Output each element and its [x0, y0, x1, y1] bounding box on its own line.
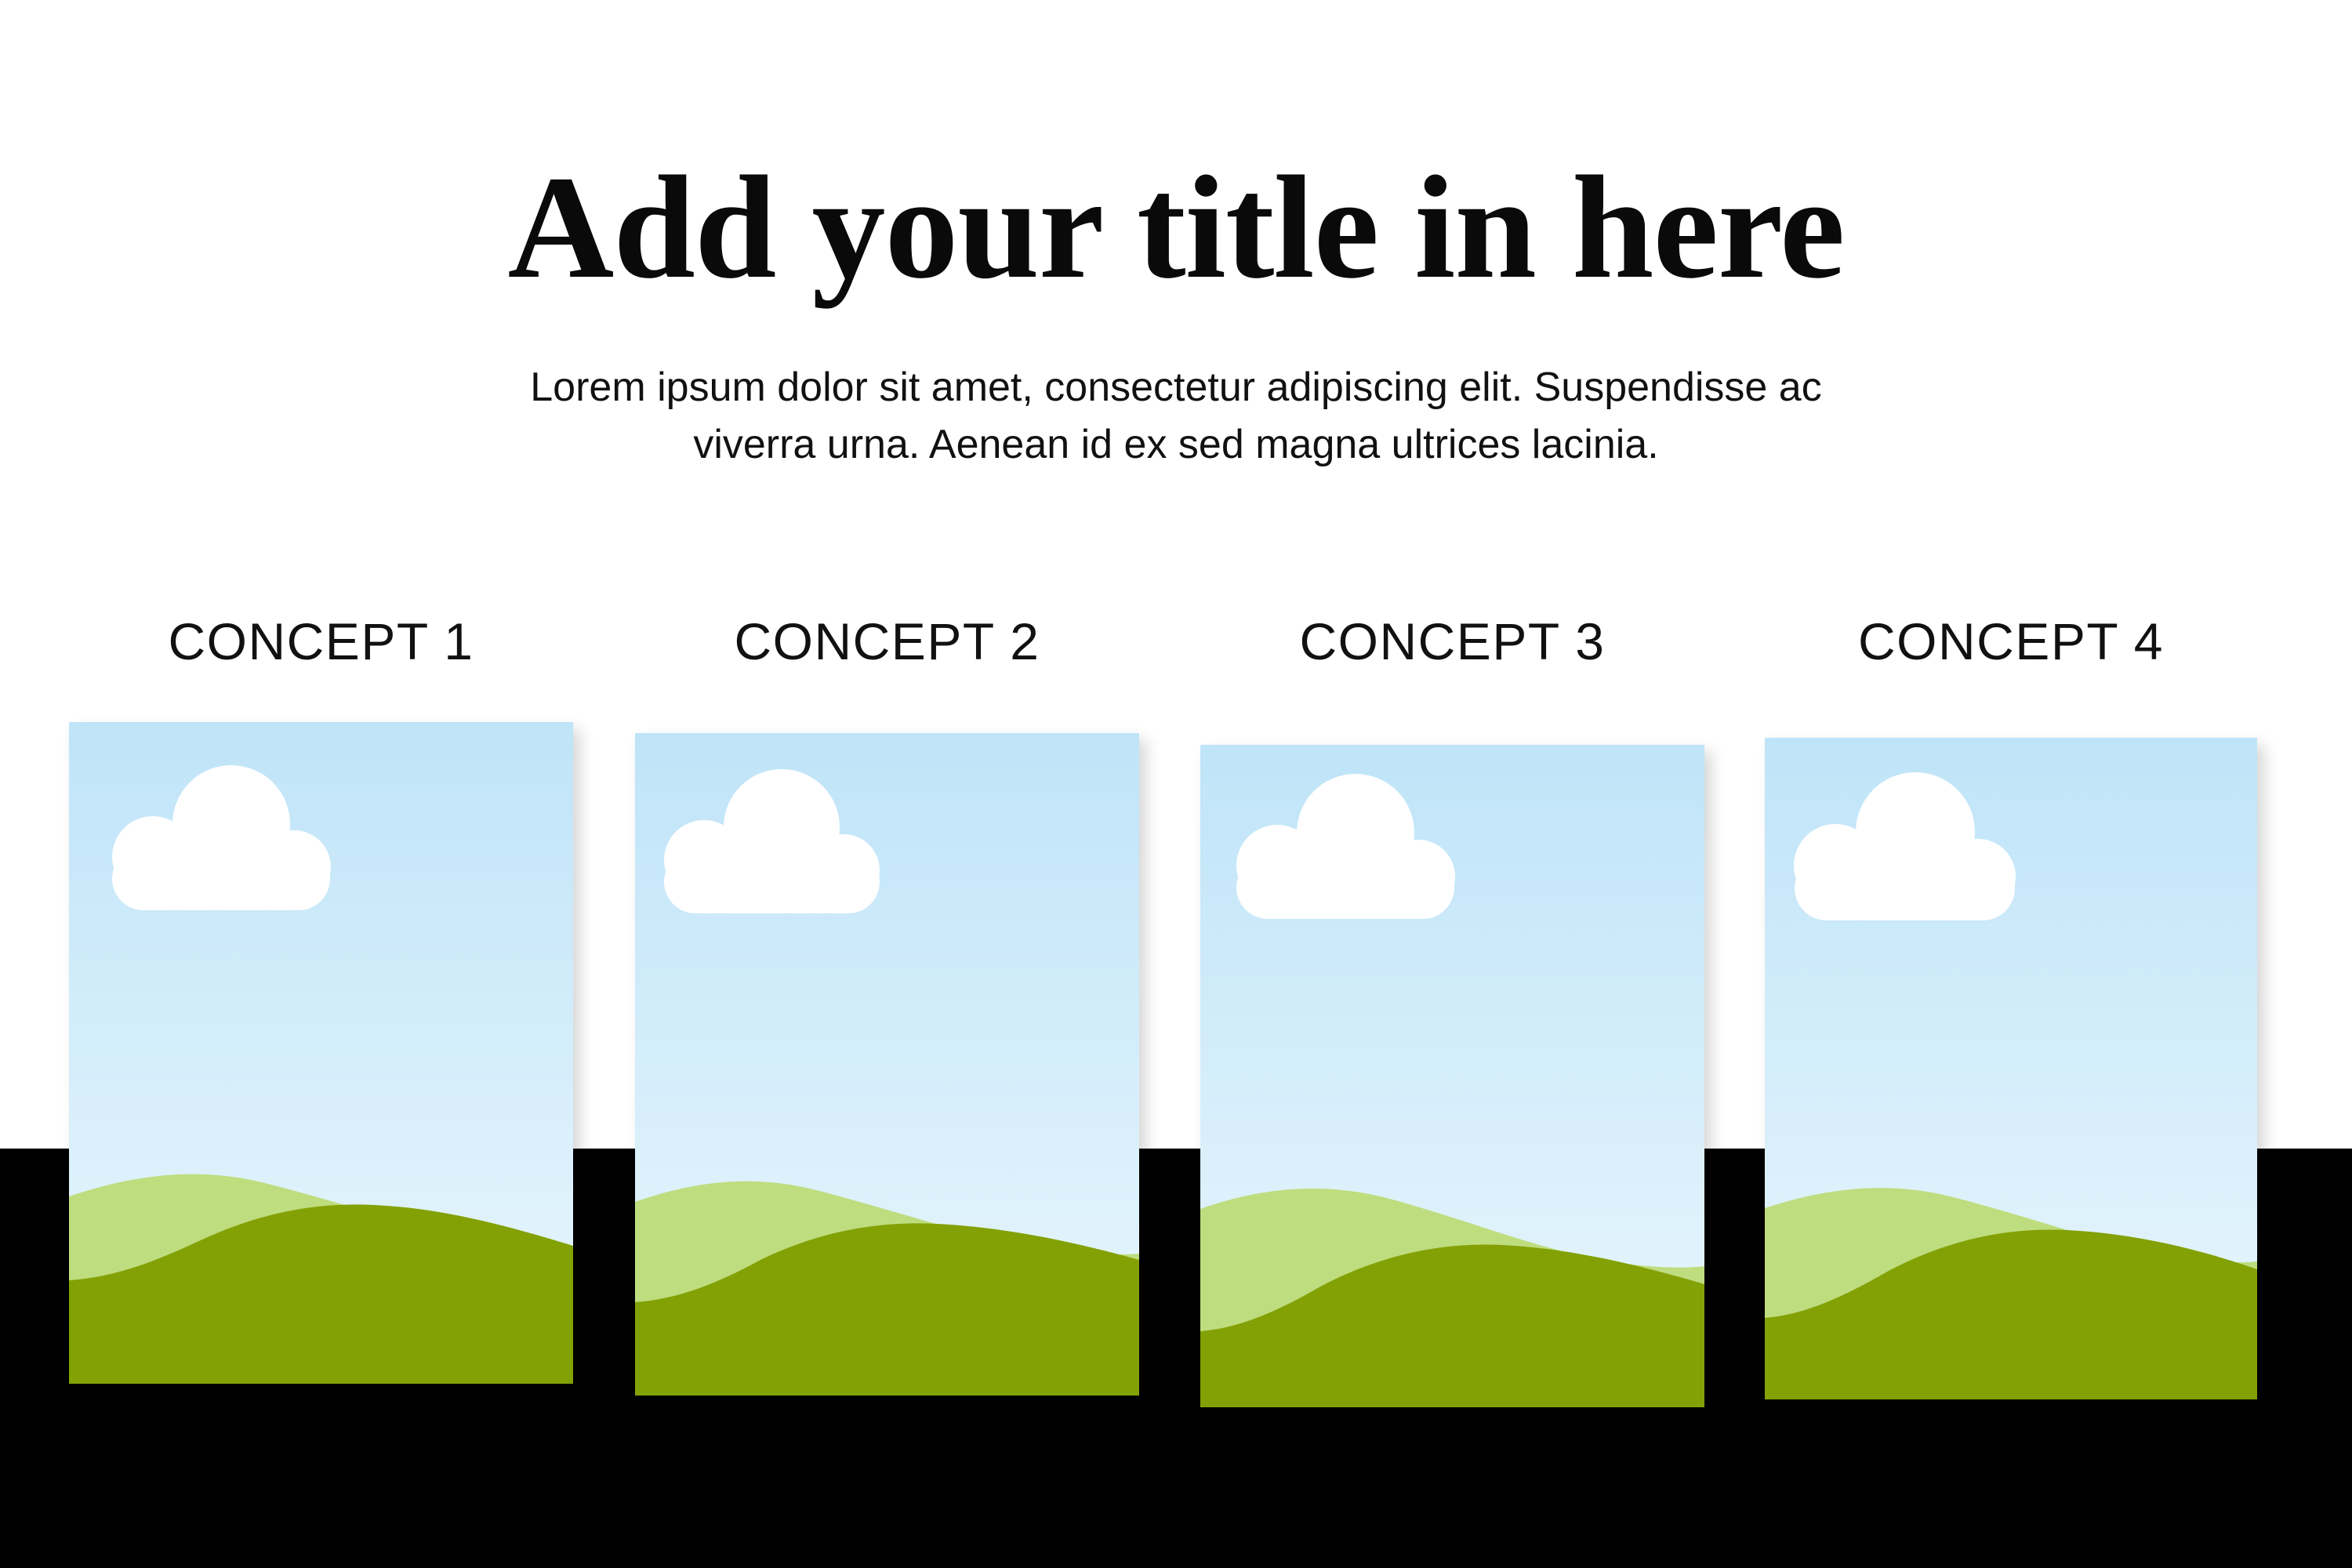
concept-label-2: CONCEPT 2	[635, 615, 1139, 667]
concept-label-1: CONCEPT 1	[69, 615, 573, 667]
landscape-illustration-3	[1200, 745, 1704, 1407]
page-title: Add your title in here	[0, 154, 2352, 301]
concept-image-card-3[interactable]	[1200, 745, 1704, 1407]
landscape-illustration-1	[69, 722, 573, 1384]
landscape-illustration-4	[1765, 738, 2257, 1399]
landscape-illustration-2	[635, 733, 1139, 1396]
concept-label-3: CONCEPT 3	[1200, 615, 1704, 667]
concept-image-card-4[interactable]	[1765, 738, 2257, 1399]
page-subtitle: Lorem ipsum dolor sit amet, consectetur …	[478, 359, 1874, 474]
slide-canvas: Add your title in here Lorem ipsum dolor…	[0, 0, 2352, 1568]
concept-image-card-1[interactable]	[69, 722, 573, 1384]
concept-image-card-2[interactable]	[635, 733, 1139, 1396]
concept-label-4: CONCEPT 4	[1765, 615, 2257, 667]
